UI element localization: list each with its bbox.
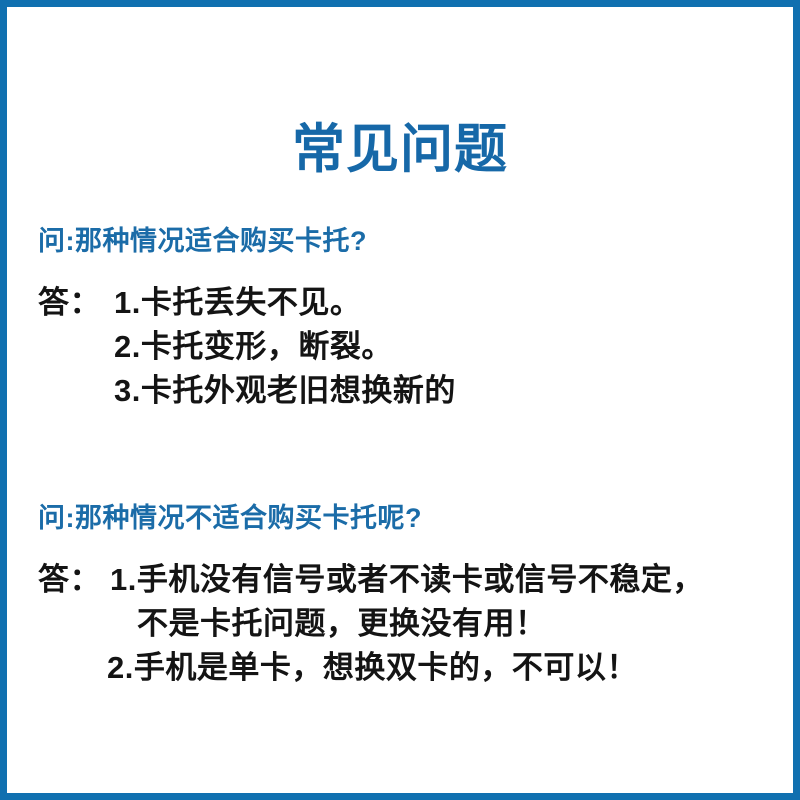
faq-item-2: 问:那种情况不适合购买卡托呢? 答：1.手机没有信号或者不读卡或信号不稳定， 不…: [38, 502, 773, 690]
answer-label: 答：: [38, 281, 114, 325]
faq-item-1: 问:那种情况适合购买卡托? 答：1.卡托丢失不见。 2.卡托变形，断裂。 3.卡…: [38, 225, 773, 413]
answer-line: 2.手机是单卡，想换双卡的，不可以！: [107, 650, 638, 685]
answer-row: 答：1.手机没有信号或者不读卡或信号不稳定，: [38, 558, 773, 602]
answer-row: 2.卡托变形，断裂。: [38, 325, 773, 369]
faq-page: 常见问题 问:那种情况适合购买卡托? 答：1.卡托丢失不见。 2.卡托变形，断裂…: [0, 0, 800, 800]
answer-line: 1.手机没有信号或者不读卡或信号不稳定，: [110, 562, 704, 597]
faq-question-1: 问:那种情况适合购买卡托?: [38, 225, 773, 259]
answer-line: 不是卡托问题，更换没有用！: [110, 606, 547, 641]
answer-row: 2.手机是单卡，想换双卡的，不可以！: [38, 646, 773, 690]
answer-row: 答：1.卡托丢失不见。: [38, 281, 773, 325]
page-title: 常见问题: [7, 121, 793, 179]
answer-line: 3.卡托外观老旧想换新的: [114, 373, 456, 408]
faq-answer-2: 答：1.手机没有信号或者不读卡或信号不稳定， 不是卡托问题，更换没有用！ 2.手…: [38, 558, 773, 690]
answer-row: 3.卡托外观老旧想换新的: [38, 369, 773, 413]
answer-line: 2.卡托变形，断裂。: [114, 329, 393, 364]
faq-answer-1: 答：1.卡托丢失不见。 2.卡托变形，断裂。 3.卡托外观老旧想换新的: [38, 281, 773, 413]
answer-label: 答：: [38, 558, 110, 602]
answer-row: 不是卡托问题，更换没有用！: [38, 602, 773, 646]
faq-question-2: 问:那种情况不适合购买卡托呢?: [38, 502, 773, 536]
answer-line: 1.卡托丢失不见。: [114, 285, 361, 320]
